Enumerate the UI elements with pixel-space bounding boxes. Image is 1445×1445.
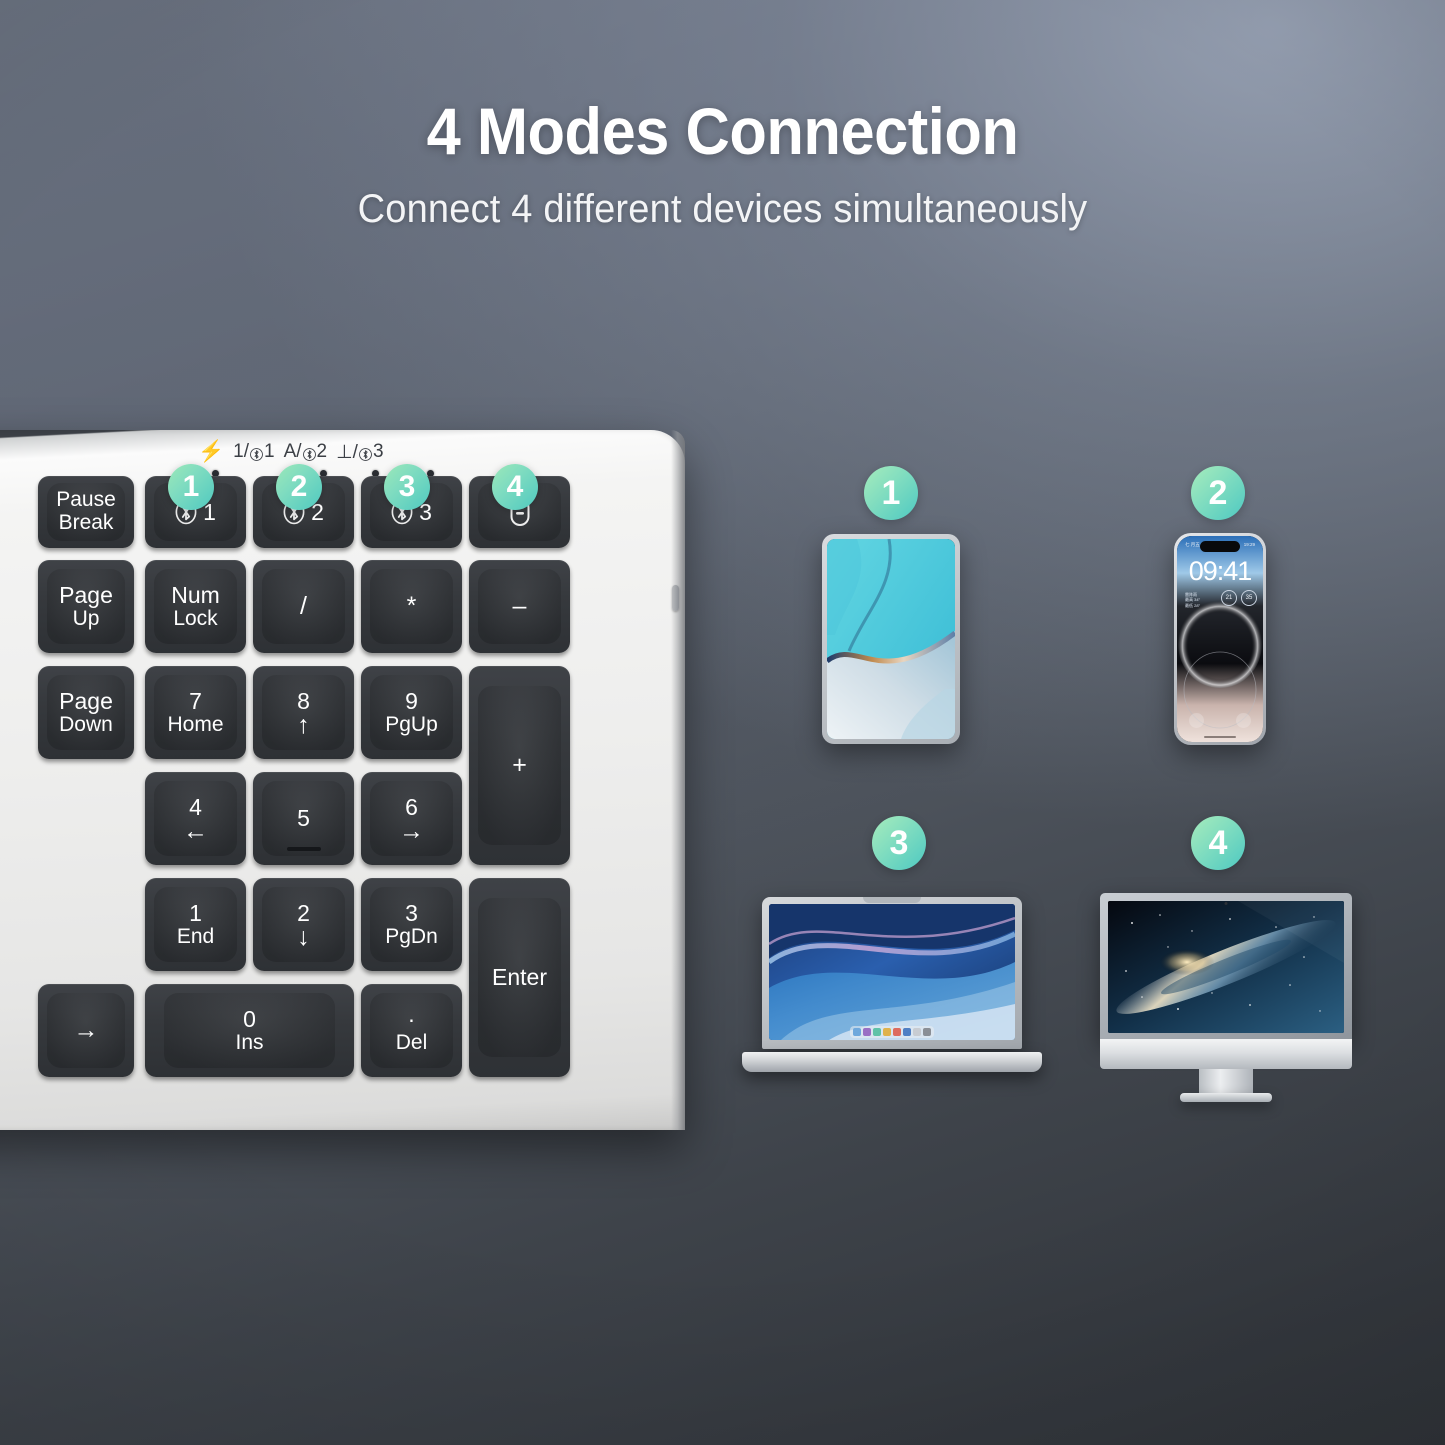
laptop-dock: [850, 1026, 934, 1038]
trash-icon: [923, 1028, 931, 1036]
key-label: 6: [405, 795, 418, 820]
key-arrow-glyph: ↑: [297, 714, 310, 737]
phone-lockscreen-time: 09:41: [1177, 558, 1263, 585]
homing-bar: [287, 847, 321, 851]
header: 4 Modes Connection Connect 4 different d…: [0, 98, 1445, 232]
key-sublabel: PgDn: [385, 926, 438, 949]
key-label: ·: [408, 1007, 416, 1032]
device-badge-4: 4: [1191, 816, 1245, 870]
legend-item-3: ⊥/ 3: [336, 441, 383, 464]
key-label: 7: [189, 689, 202, 714]
monitor-bezel: [1100, 893, 1352, 1039]
key-arrow-glyph: →: [399, 820, 424, 843]
tablet-screen: [827, 539, 955, 739]
laptop-base: [742, 1052, 1042, 1072]
key-num-7[interactable]: 7Home: [145, 666, 246, 759]
key-label: 9: [405, 689, 418, 714]
bluetooth-icon: [359, 448, 372, 461]
monitor-device: [1100, 893, 1352, 1085]
key-num-2[interactable]: 2↓: [253, 878, 354, 971]
dock-icon: [863, 1028, 871, 1036]
key-label: /: [300, 593, 307, 620]
page-subtitle: Connect 4 different devices simultaneous…: [36, 187, 1409, 232]
dock-icon: [893, 1028, 901, 1036]
keyboard-mode-badge-4: 4: [492, 464, 538, 510]
dock-icon: [913, 1028, 921, 1036]
dock-icon: [883, 1028, 891, 1036]
key-pause-break[interactable]: PauseBreak: [38, 476, 134, 548]
laptop-lid: [762, 897, 1022, 1049]
monitor-stand-foot: [1180, 1093, 1272, 1102]
phone-widget-ring-2: 35: [1241, 590, 1257, 606]
flashlight-icon[interactable]: [1189, 713, 1204, 728]
keyboard-mode-badge-2: 2: [276, 464, 322, 510]
dock-icon: [903, 1028, 911, 1036]
key-label: Enter: [492, 965, 547, 990]
key-num-0[interactable]: 0Ins: [145, 984, 354, 1077]
laptop-wallpaper: [769, 904, 1015, 1040]
key-label: 0: [243, 1007, 256, 1032]
key-divide[interactable]: /: [253, 560, 354, 653]
phone-weather-widget: 雷阵雨 最高 34° 最低 28°: [1185, 592, 1200, 608]
monitor-wallpaper: [1108, 901, 1344, 1033]
key-sublabel: End: [177, 926, 214, 949]
monitor-screen: [1108, 901, 1344, 1033]
key-sublabel: Lock: [173, 608, 217, 631]
phone-widget-ring-1: 21: [1221, 590, 1237, 606]
key-plus[interactable]: +: [469, 666, 570, 865]
key-multiply[interactable]: *: [361, 560, 462, 653]
laptop-camera-notch: [863, 897, 921, 903]
key-minus[interactable]: –: [469, 560, 570, 653]
home-indicator: [1204, 736, 1236, 738]
key-num-9[interactable]: 9PgUp: [361, 666, 462, 759]
key-arrow-glyph: ←: [183, 820, 208, 843]
key-sublabel: PgUp: [385, 714, 438, 737]
key-label: Num: [171, 583, 220, 608]
bluetooth-icon: [303, 448, 316, 461]
key-page-up[interactable]: PageUp: [38, 560, 134, 653]
device-badge-1: 1: [864, 466, 918, 520]
key-num-dot[interactable]: ·Del: [361, 984, 462, 1077]
phone-screen: 七 月五 19:29 09:41 雷阵雨 最高 34° 最低 28° 21 35: [1177, 536, 1263, 742]
key-enter[interactable]: Enter: [469, 878, 570, 1077]
key-label: –: [513, 593, 527, 620]
key-label: 2: [297, 901, 310, 926]
key-num-6[interactable]: 6→: [361, 772, 462, 865]
key-num-4[interactable]: 4←: [145, 772, 246, 865]
tablet-device: [822, 534, 960, 744]
key-num-8[interactable]: 8↑: [253, 666, 354, 759]
key-arrow-glyph: →: [74, 1019, 99, 1042]
key-sublabel: Break: [59, 512, 114, 535]
dynamic-island: [1200, 541, 1240, 552]
camera-icon[interactable]: [1236, 713, 1251, 728]
key-grid: ScrollLockPauseBreak123HomePageUpNumLock…: [0, 476, 685, 1116]
key-arrow-glyph: ↓: [297, 926, 310, 949]
legend-item-2: A/ 2: [284, 441, 328, 463]
key-label: *: [407, 593, 417, 620]
phone-device: 七 月五 19:29 09:41 雷阵雨 最高 34° 最低 28° 21 35: [1174, 533, 1266, 745]
tablet-wallpaper: [827, 539, 955, 739]
key-label: +: [512, 752, 527, 779]
key-arrow-right[interactable]: →: [38, 984, 134, 1077]
key-sublabel: Del: [396, 1032, 428, 1055]
key-num-1[interactable]: 1End: [145, 878, 246, 971]
device-badge-2: 2: [1191, 466, 1245, 520]
dock-icon: [853, 1028, 861, 1036]
key-sublabel: Ins: [235, 1032, 263, 1055]
key-label: 5: [297, 806, 310, 831]
keyboard-mode-badge-3: 3: [384, 464, 430, 510]
key-page-down[interactable]: PageDown: [38, 666, 134, 759]
monitor-chin: [1100, 1039, 1352, 1069]
laptop-screen: [769, 904, 1015, 1040]
key-sublabel: Down: [59, 714, 113, 737]
keyboard-mode-badge-1: 1: [168, 464, 214, 510]
monitor-camera-icon: [1225, 902, 1228, 905]
laptop-device: [742, 897, 1042, 1072]
dock-icon: [873, 1028, 881, 1036]
device-badge-3: 3: [872, 816, 926, 870]
key-sublabel: Home: [167, 714, 223, 737]
page-title: 4 Modes Connection: [51, 98, 1395, 165]
key-label: Pause: [56, 489, 116, 512]
phone-status-right: 19:29: [1244, 542, 1255, 547]
lightning-bolt-icon: ⚡: [198, 441, 224, 462]
key-label: 8: [297, 689, 310, 714]
key-num-lock[interactable]: NumLock: [145, 560, 246, 653]
bluetooth-icon: [250, 448, 263, 461]
keyboard: ⚡ 1/ 1 A/ 2 ⊥/ 3 Sc: [0, 430, 685, 1130]
phone-status-left: 七 月五: [1185, 542, 1200, 548]
key-label: 3: [405, 901, 418, 926]
key-num-3[interactable]: 3PgDn: [361, 878, 462, 971]
key-num-5[interactable]: 5: [253, 772, 354, 865]
key-label: Page: [59, 689, 113, 714]
legend-item-1: 1/ 1: [233, 441, 274, 463]
key-sublabel: Up: [73, 608, 100, 631]
indicator-legend: ⚡ 1/ 1 A/ 2 ⊥/ 3: [198, 438, 448, 466]
key-label: Page: [59, 583, 113, 608]
key-label: 1: [189, 901, 202, 926]
key-label: 4: [189, 795, 202, 820]
